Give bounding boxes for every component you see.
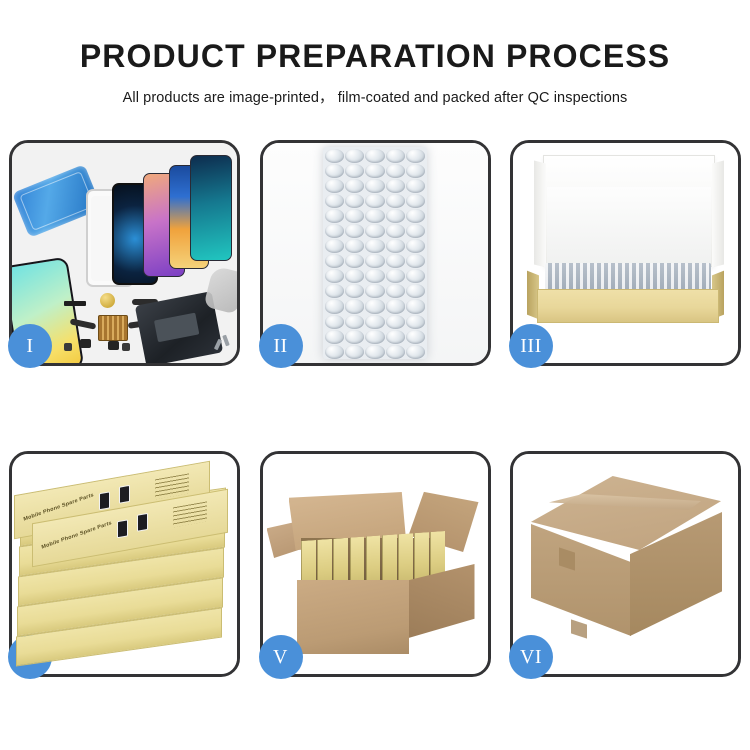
- step-badge-5: V: [259, 635, 303, 679]
- page-title: PRODUCT PREPARATION PROCESS: [0, 38, 750, 75]
- bubble: [386, 315, 405, 329]
- bubble: [345, 254, 364, 268]
- kraft-box: [398, 533, 413, 586]
- carton-front-panel: [297, 580, 409, 654]
- bubble: [325, 164, 344, 178]
- bubble-wrapped-items: [545, 263, 711, 291]
- step-card-4: Mobile Phone Spare PartsMobile Phone Spa…: [9, 451, 240, 677]
- bubble: [345, 164, 364, 178]
- bubble: [325, 194, 344, 208]
- step-badge-3: III: [509, 324, 553, 368]
- bubble: [406, 224, 425, 238]
- bubble: [365, 284, 384, 298]
- bubble: [386, 179, 405, 193]
- bubble: [406, 149, 425, 163]
- chip-part: [80, 339, 91, 348]
- bubble: [325, 269, 344, 283]
- bubble: [406, 315, 425, 329]
- bubble: [325, 330, 344, 344]
- step-card-3: III: [510, 140, 741, 366]
- bubble: [406, 345, 425, 359]
- bubble: [325, 239, 344, 253]
- foam-liner: [547, 187, 711, 265]
- bubble: [325, 254, 344, 268]
- step-badge-6: VI: [509, 635, 553, 679]
- step-card-6: VI: [510, 451, 741, 677]
- bubble: [365, 315, 384, 329]
- bubble: [386, 164, 405, 178]
- smartphone-teal-screen: [190, 155, 232, 261]
- step-4-image: Mobile Phone Spare PartsMobile Phone Spa…: [12, 454, 237, 674]
- bubble: [365, 164, 384, 178]
- printed-phone-graphic: [99, 491, 110, 510]
- bubble: [406, 269, 425, 283]
- bubble: [365, 239, 384, 253]
- bubble: [345, 209, 364, 223]
- bubble: [365, 299, 384, 313]
- carton-flap-seam: [571, 619, 587, 638]
- bubble: [386, 299, 405, 313]
- chip-part: [108, 341, 119, 350]
- bubble: [345, 315, 364, 329]
- bubble: [365, 269, 384, 283]
- bubble: [345, 330, 364, 344]
- bubble: [345, 284, 364, 298]
- bubble: [325, 209, 344, 223]
- bubble: [386, 284, 405, 298]
- bubble: [365, 194, 384, 208]
- bubble: [345, 345, 364, 359]
- bubble: [406, 284, 425, 298]
- chip-part: [64, 343, 72, 351]
- bubble: [365, 254, 384, 268]
- step-card-5: V: [260, 451, 491, 677]
- flex-cable-part: [64, 301, 86, 306]
- bubble: [406, 209, 425, 223]
- bubble-wrap-sheet: [323, 147, 427, 359]
- printed-phone-graphic: [119, 485, 130, 504]
- bubble: [386, 254, 405, 268]
- bubble: [406, 164, 425, 178]
- step-card-2: II: [260, 140, 491, 366]
- bubble: [386, 224, 405, 238]
- bubble: [345, 239, 364, 253]
- bubble: [386, 239, 405, 253]
- bubble: [365, 345, 384, 359]
- step-card-1: I: [9, 140, 240, 366]
- bubble: [345, 269, 364, 283]
- bubble: [406, 299, 425, 313]
- gold-component-part: [100, 293, 115, 308]
- bubble: [386, 345, 405, 359]
- product-preparation-infographic: PRODUCT PREPARATION PROCESS All products…: [0, 0, 750, 750]
- box-label-text: Mobile Phone Spare Parts: [41, 520, 112, 550]
- bubble: [386, 269, 405, 283]
- kraft-inner-box: [537, 289, 719, 323]
- bubble: [365, 330, 384, 344]
- bubble: [386, 194, 405, 208]
- bubble: [325, 284, 344, 298]
- connector-grid-part: [98, 315, 128, 341]
- page-subtitle: All products are image-printed， film-coa…: [0, 86, 750, 107]
- chip-part: [122, 343, 130, 351]
- bubble: [345, 224, 364, 238]
- bubble: [365, 149, 384, 163]
- bubble: [406, 194, 425, 208]
- bubble: [325, 149, 344, 163]
- step-badge-2: II: [259, 324, 303, 368]
- bubble: [325, 224, 344, 238]
- bubble: [345, 299, 364, 313]
- screw-part: [222, 335, 230, 347]
- bubble: [406, 330, 425, 344]
- bubble: [325, 299, 344, 313]
- printed-phone-graphic: [117, 519, 128, 538]
- bubble: [345, 179, 364, 193]
- bubble: [325, 345, 344, 359]
- printed-text-lines: [173, 501, 207, 527]
- process-step-grid: I II III Mobile Phone Spa: [9, 140, 741, 677]
- kraft-box-stack: Mobile Phone Spare PartsMobile Phone Spa…: [12, 472, 237, 664]
- bubble: [345, 194, 364, 208]
- header: PRODUCT PREPARATION PROCESS All products…: [0, 0, 750, 107]
- bubble: [406, 254, 425, 268]
- bubble: [406, 239, 425, 253]
- printed-phone-graphic: [137, 513, 148, 532]
- bubble: [325, 315, 344, 329]
- step-badge-1: I: [8, 324, 52, 368]
- bubble: [386, 209, 405, 223]
- bubble: [365, 224, 384, 238]
- bubble: [365, 179, 384, 193]
- bubble: [345, 149, 364, 163]
- bubble: [386, 330, 405, 344]
- bubble: [406, 179, 425, 193]
- bubble: [325, 179, 344, 193]
- bubble: [365, 209, 384, 223]
- bubble: [386, 149, 405, 163]
